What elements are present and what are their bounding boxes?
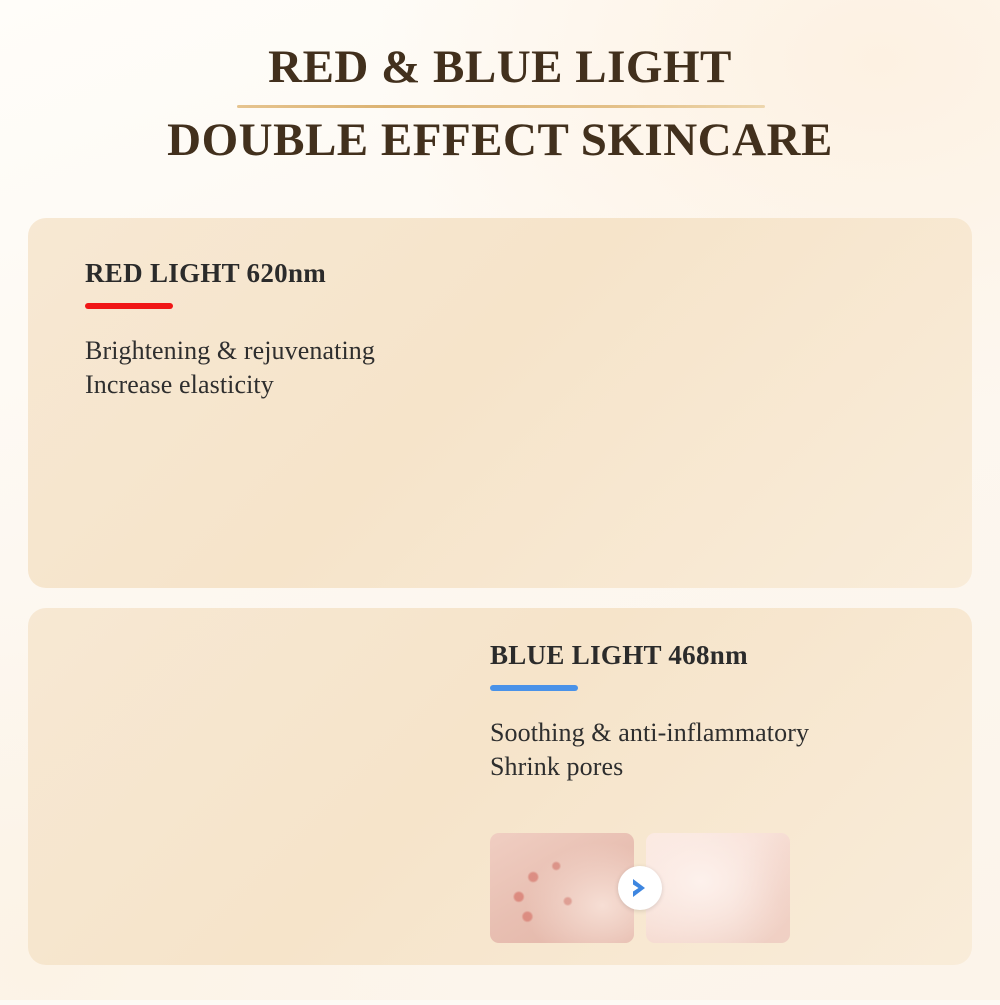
red-light-description: Brightening & rejuvenating Increase elas… [85, 334, 505, 403]
blue-accent-bar [490, 685, 578, 691]
page-header: RED & BLUE LIGHT DOUBLE EFFECT SKINCARE [0, 0, 1000, 200]
headline-secondary: DOUBLE EFFECT SKINCARE [0, 113, 1000, 167]
after-photo-clear-skin [646, 833, 790, 943]
blue-benefit-line-1: Soothing & anti-inflammatory [490, 716, 950, 750]
blue-light-description: Soothing & anti-inflammatory Shrink pore… [490, 716, 950, 785]
red-accent-bar [85, 303, 173, 309]
before-photo-acne-skin [490, 833, 634, 943]
headline-primary: RED & BLUE LIGHT [0, 40, 1000, 94]
red-light-title: RED LIGHT 620nm [85, 258, 505, 289]
feature-card-red-light: RED LIGHT 620nm Brightening & rejuvenati… [28, 218, 972, 588]
headline-divider [237, 105, 765, 108]
red-benefit-line-2: Increase elasticity [85, 368, 505, 402]
chevron-right-icon [630, 877, 650, 899]
red-light-text-block: RED LIGHT 620nm Brightening & rejuvenati… [85, 258, 505, 403]
blue-light-text-block: BLUE LIGHT 468nm Soothing & anti-inflamm… [490, 640, 950, 785]
blue-benefit-line-2: Shrink pores [490, 750, 950, 784]
blue-light-title: BLUE LIGHT 468nm [490, 640, 950, 671]
red-benefit-line-1: Brightening & rejuvenating [85, 334, 505, 368]
chevron-right-icon-badge-blue [618, 866, 662, 910]
blue-before-after-comparison [490, 833, 790, 943]
